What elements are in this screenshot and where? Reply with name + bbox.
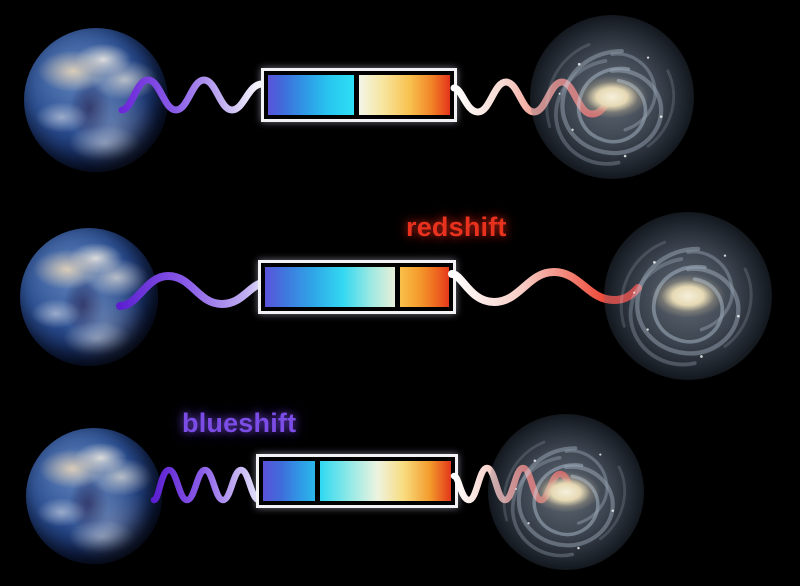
spectrum-segment-blue xyxy=(268,75,354,115)
spiral-galaxy xyxy=(604,212,772,380)
row-redshift: redshift xyxy=(0,196,800,390)
spectrum-segment-red xyxy=(400,267,449,307)
spectrum-segment-blue xyxy=(265,267,395,307)
spectrum-segment-red xyxy=(320,461,451,501)
doppler-shift-diagram: redshift xyxy=(0,0,800,581)
row-reference xyxy=(0,0,800,194)
spectrum-bar-redshift xyxy=(258,260,456,314)
spiral-galaxy xyxy=(530,15,694,179)
earth-planet xyxy=(24,28,168,172)
blueshift-label: blueshift xyxy=(182,408,296,439)
spectrum-segment-blue xyxy=(263,461,315,501)
spiral-galaxy xyxy=(488,414,644,570)
row-blueshift: blueshift xyxy=(0,392,800,586)
spectrum-bar-blueshift xyxy=(256,454,458,508)
spectrum-bar-reference xyxy=(261,68,457,122)
earth-planet xyxy=(20,228,158,366)
spectrum-segment-red xyxy=(359,75,450,115)
redshift-label: redshift xyxy=(406,212,507,243)
earth-planet xyxy=(26,428,162,564)
